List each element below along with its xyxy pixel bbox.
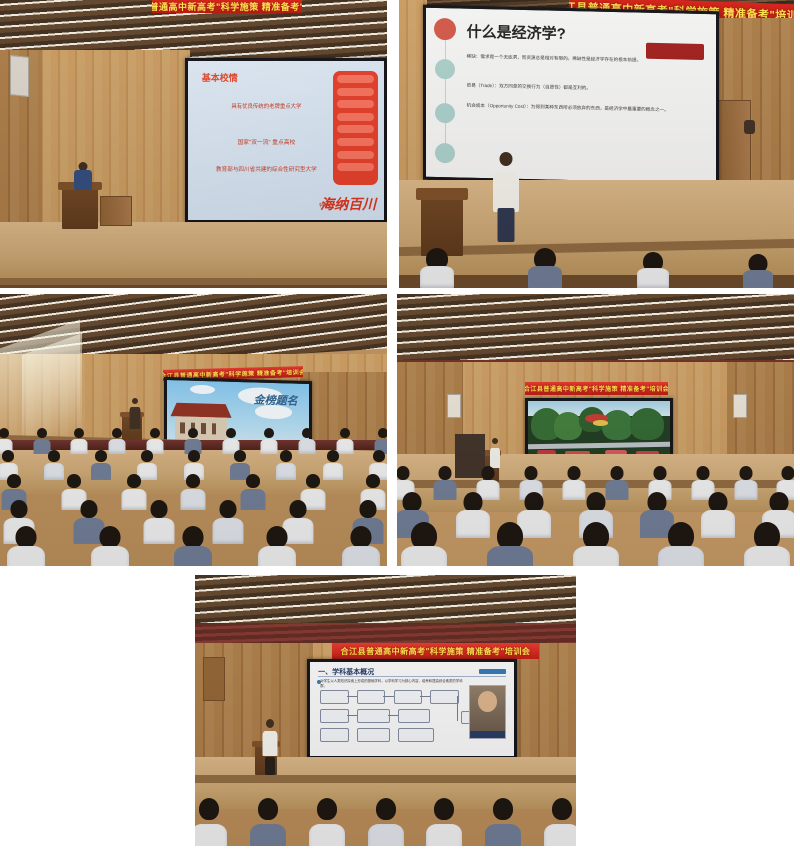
slide-line-2: 国家"双一流" 重点高校 — [204, 137, 329, 146]
timeline-dot-2 — [435, 59, 455, 79]
slide-calligraphy: 金榜题名 — [254, 392, 298, 409]
timeline-dot-3 — [435, 103, 455, 123]
flow-node — [320, 690, 349, 704]
slide-side-panel — [333, 71, 378, 186]
event-banner-text: 合江县普通高中新高考"科学施策 精准备考"培训会 — [341, 646, 531, 657]
event-banner-text: 合江县普通高中新高考"科学施策 精准备考"培训会 — [525, 384, 668, 393]
flow-node — [320, 709, 349, 723]
photo-speaker-economics-lecture: 合江县普通高中新高考"科学施策 精准备考"培训会 什么是经济学? 稀缺：需求是一… — [399, 0, 794, 288]
photo-auditorium-wide-students-seated: 合江县普通高中新高考"科学施策 精准备考"培训会 金榜题名 — [0, 294, 387, 566]
audience-row — [0, 526, 387, 566]
photo-speaker-discipline-framework: 合江县普通高中新高考"科学施策 精准备考"培训会 一、学科基本概况 对学生以人类… — [195, 575, 576, 846]
slide-badge — [646, 43, 704, 60]
speaker — [261, 719, 279, 775]
event-banner: 合江县普通高中新高考"科学施策 精准备考"培训会 — [152, 0, 302, 13]
stage-screen: 一、学科基本概况 对学生以人类知识探索上形成的基础学科，以学科学习为核心内容，培… — [307, 659, 517, 759]
slide-tag — [479, 669, 506, 675]
slide-title: 基本校情 — [202, 71, 238, 84]
photo-auditorium-rear-view-students: 合江县普通高中新高考"科学施策 精准备考"培训会 — [397, 294, 794, 566]
audience-row — [397, 522, 794, 566]
audience-row — [195, 798, 576, 846]
slide-paragraph-3: 机会成本（Opportunity Cost）：为得到某种东西所必须放弃的东西，是… — [467, 102, 702, 115]
stage-screen: 基本校情 具有优良传统的老牌重点大学 国家"双一流" 重点高校 教育部与四川省共… — [185, 58, 387, 223]
wall-speaker-icon — [447, 394, 461, 418]
flow-node — [394, 690, 423, 704]
ceiling-speaker-icon — [10, 55, 29, 97]
portrait-caption — [470, 731, 505, 738]
speaker — [491, 152, 521, 242]
slide-line-3: 教育部与四川省共建的综合性研究型大学 — [204, 166, 329, 174]
slide-what-is-economics: 什么是经济学? 稀缺：需求是一个无底洞，而资源总是相对有限的。稀缺性是经济学存在… — [426, 8, 716, 184]
event-banner-text: 合江县普通高中新高考"科学施策 精准备考"培训会 — [152, 0, 302, 13]
flow-node — [398, 709, 431, 723]
event-banner: 合江县普通高中新高考"科学施策 精准备考"培训会 — [332, 643, 539, 659]
stage-screen: 什么是经济学? 稀缺：需求是一个无底洞，而资源总是相对有限的。稀缺性是经济学存在… — [423, 5, 719, 187]
speaker — [72, 162, 94, 198]
flow-node — [320, 728, 349, 742]
slide-logo-text: 海纳百川 — [320, 194, 376, 214]
timeline-dot-1 — [434, 18, 456, 40]
slide-discipline-framework: 一、学科基本概况 对学生以人类知识探索上形成的基础学科，以学科学习为核心内容，培… — [310, 662, 514, 756]
wall-speaker-icon — [744, 120, 755, 134]
timeline-dot-4 — [435, 143, 455, 163]
portrait-photo — [469, 685, 506, 740]
flow-node — [357, 690, 386, 704]
podium — [421, 188, 463, 256]
flow-node — [398, 728, 435, 742]
slide-paragraph-2: 贸易（Trade）：双方同意的交换行为（自愿性）都是互利的。 — [467, 81, 702, 94]
slide-school-intro: 基本校情 具有优良传统的老牌重点大学 国家"双一流" 重点高校 教育部与四川省共… — [188, 61, 384, 220]
slide-line-1: 具有优良传统的老牌重点大学 — [204, 102, 329, 110]
photo-speaker-at-podium-school-intro: 合江县普通高中新高考"科学施策 精准备考"培训会 基本校情 具有优良传统的老牌重… — [0, 0, 387, 288]
slide-subtitle: 对学生以人类知识探索上形成的基础学科，以学科学习为核心内容，培养和提高综合素质的… — [320, 679, 469, 689]
slide-title: 什么是经济学? — [467, 20, 566, 43]
slide-garden-photo — [528, 401, 670, 457]
event-banner: 合江县普通高中新高考"科学施策 精准备考"培训会 — [525, 382, 668, 395]
photo-collage: 合江县普通高中新高考"科学施策 精准备考"培训会 基本校情 具有优良传统的老牌重… — [0, 0, 800, 851]
stage-screen — [525, 398, 673, 460]
wall-speaker-icon — [733, 394, 747, 418]
flow-node — [357, 728, 390, 742]
flow-node — [430, 690, 459, 704]
flow-node — [357, 709, 390, 723]
